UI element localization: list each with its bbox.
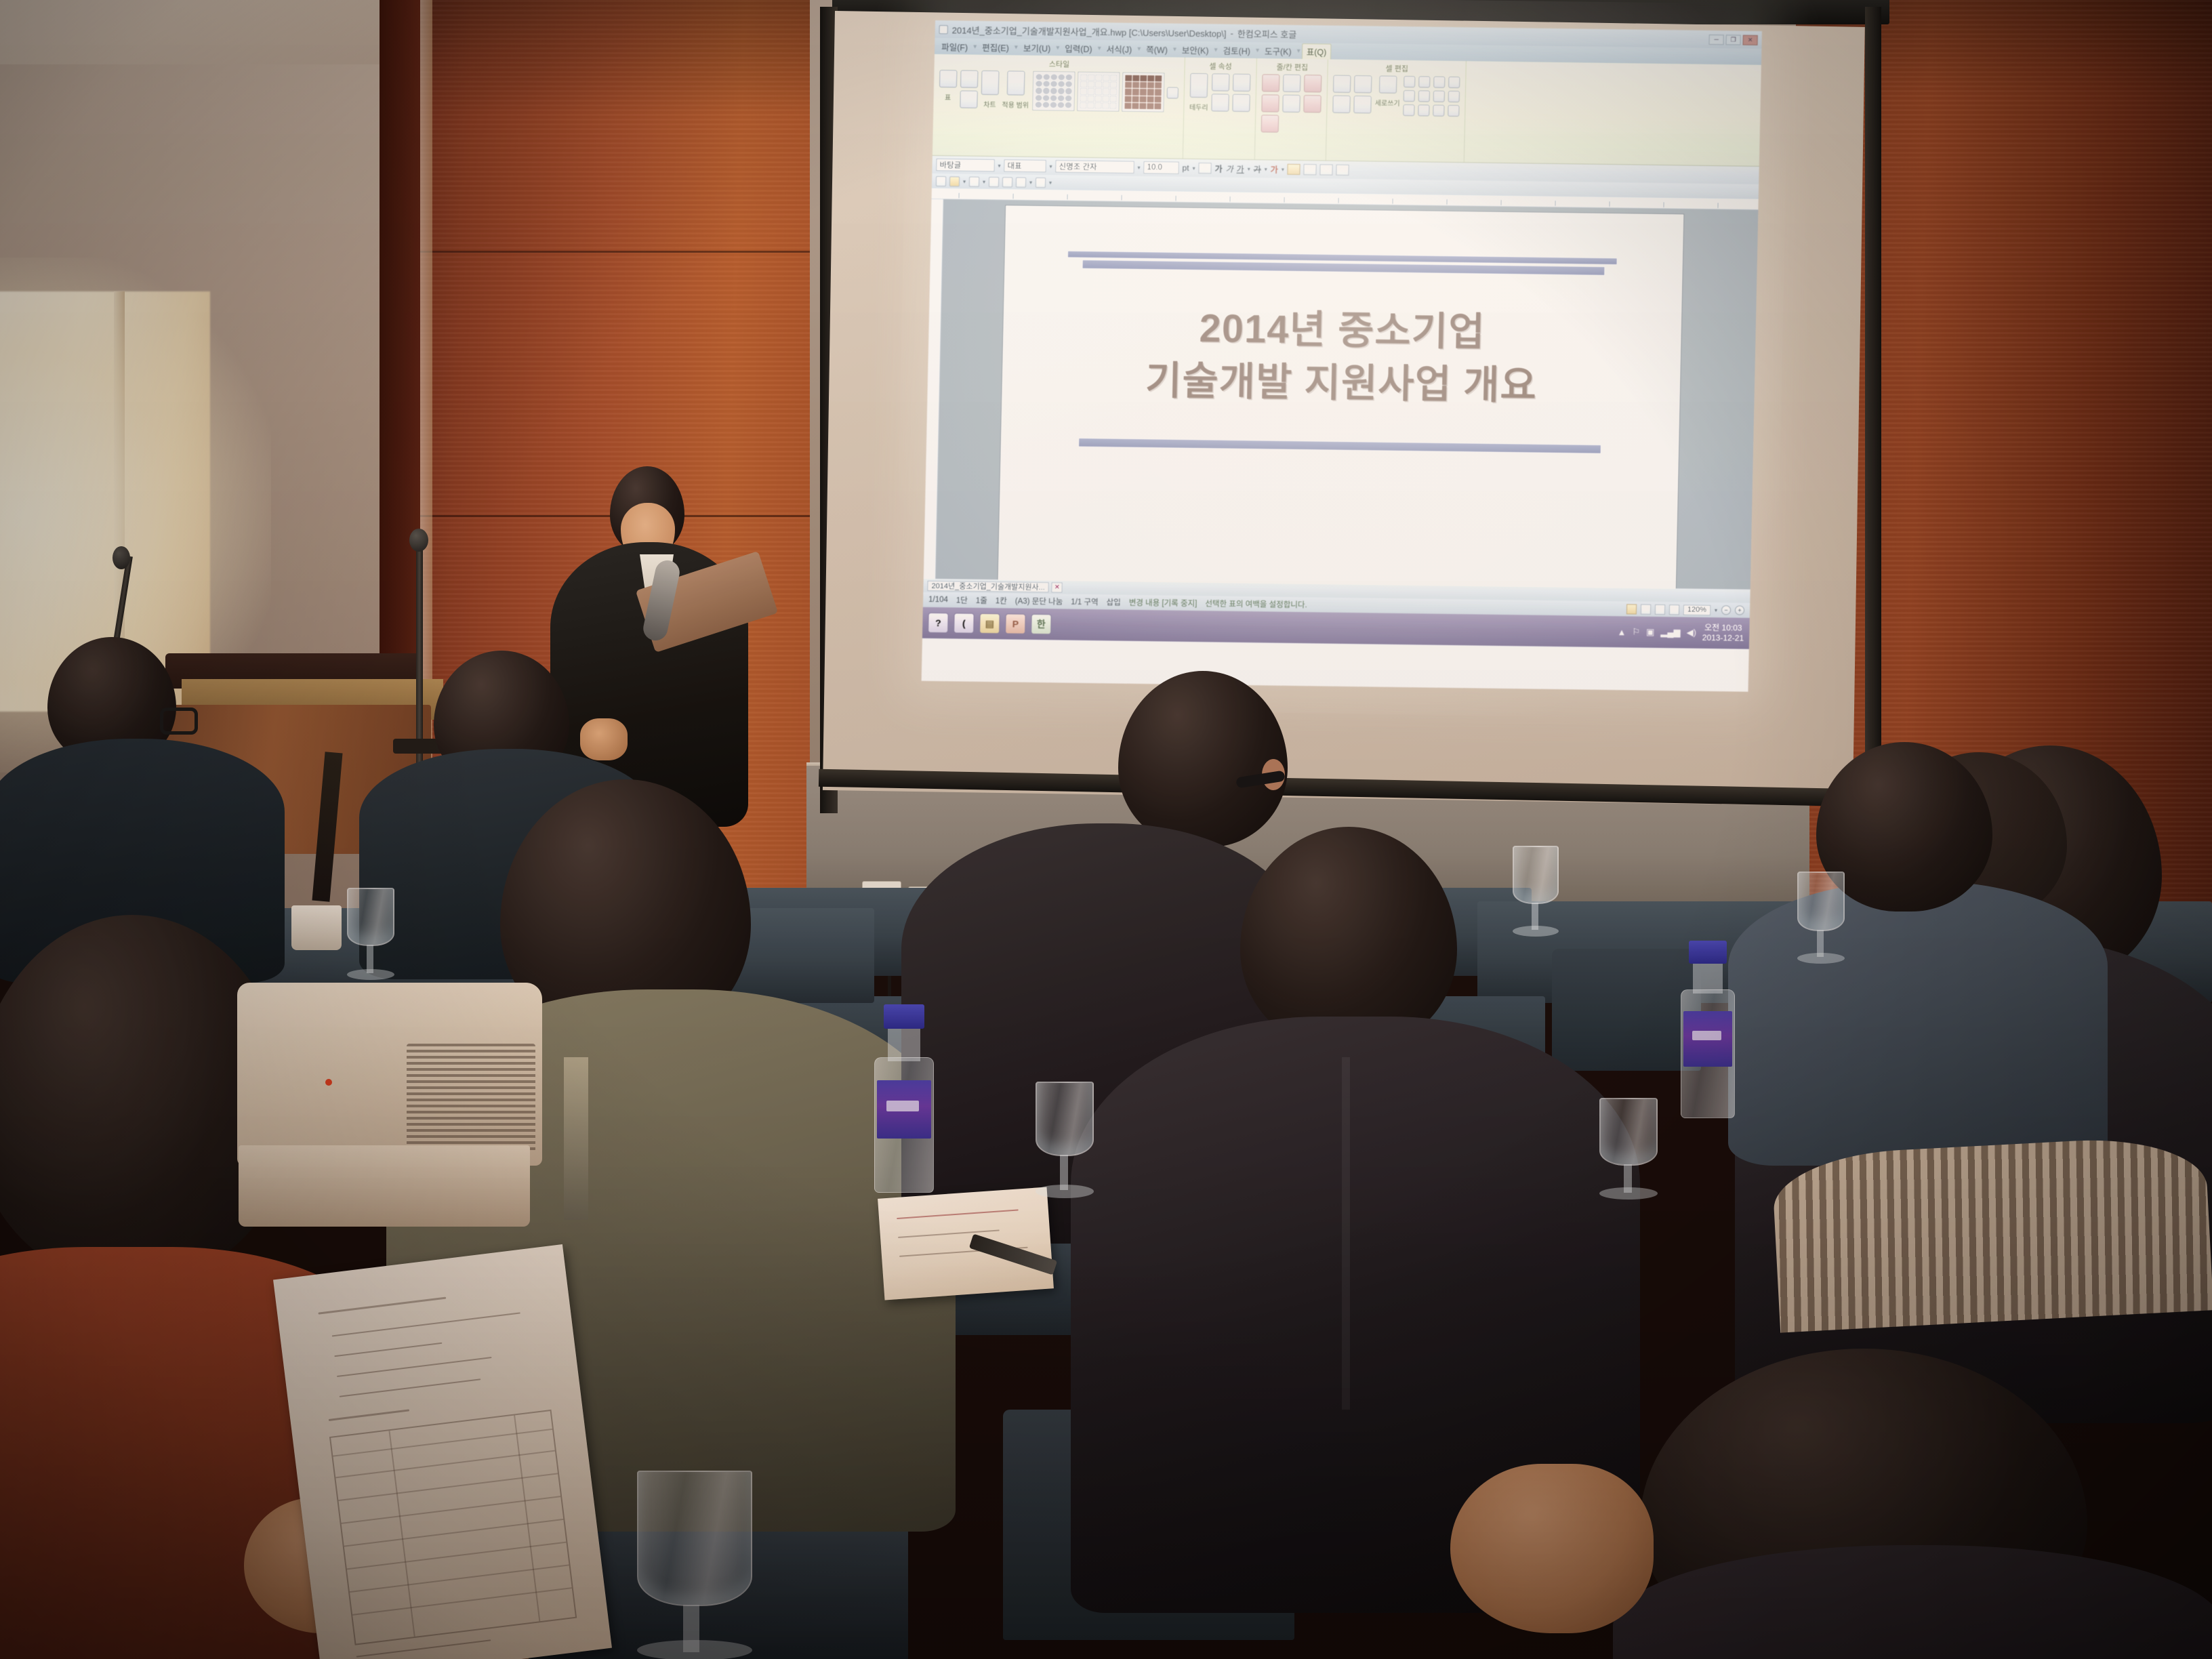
taskbar-browser-icon[interactable]: (	[954, 613, 975, 633]
ribbon-group-row-column-edit: 줄/칸 편집	[1255, 58, 1328, 160]
document-tab[interactable]: 2014년_중소기업_기술개발지원사...	[927, 580, 1049, 592]
zoom-magnifier-icon[interactable]	[1669, 605, 1679, 615]
glass-foot	[1036, 1185, 1094, 1198]
diagonal-line-icon[interactable]	[1232, 94, 1250, 112]
handout-subheading	[329, 1409, 409, 1421]
glass-foot	[1797, 953, 1845, 964]
document-canvas[interactable]: 2014년 중소기업 기술개발 지원사업 개요	[924, 199, 1759, 590]
caption-icon[interactable]	[960, 90, 978, 108]
ribbon-group-label: 셀 속성	[1209, 60, 1232, 71]
projected-desktop: 2014년_중소기업_기술개발지원사업_개요.hwp [C:\Users\Use…	[922, 20, 1762, 692]
table-icon[interactable]	[939, 70, 958, 87]
document-title: 2014년 중소기업 기술개발 지원사업 개요	[1079, 272, 1604, 445]
hwp-app-icon	[939, 25, 948, 34]
merge-cells-icon[interactable]	[1333, 75, 1351, 93]
gallery-scroll-icon[interactable]	[1166, 87, 1178, 98]
split-cells-icon[interactable]	[1332, 96, 1351, 113]
chevron-down-icon[interactable]: ▾	[998, 163, 1000, 169]
signal-icon[interactable]: ▂▄▆	[1660, 627, 1681, 638]
strikethrough-button[interactable]: 가	[1254, 163, 1261, 175]
menu-sep: ▾	[1256, 47, 1259, 54]
chart-insert-icon[interactable]	[981, 70, 1000, 95]
redo-icon[interactable]	[1036, 177, 1046, 187]
handout-text-line	[334, 1343, 442, 1357]
ribbon-group-label: 스타일	[1049, 58, 1070, 69]
bold-button[interactable]: 가	[1214, 163, 1222, 174]
align-left-icon[interactable]	[1288, 164, 1300, 175]
chevron-down-icon[interactable]: ▾	[1248, 166, 1250, 172]
ribbon-item-label: 세로쓰기	[1375, 98, 1400, 108]
open-file-icon[interactable]	[949, 176, 960, 186]
ribbon-group-cell-properties: 셀 속성 테두리	[1183, 58, 1257, 159]
hand	[1450, 1464, 1654, 1633]
handout-table	[329, 1410, 577, 1645]
microphone-icon	[409, 529, 428, 552]
status-hint: 선택한 표의 여백을 설정합니다.	[1205, 598, 1307, 610]
print-icon[interactable]	[989, 177, 999, 187]
menu-view[interactable]: 보기(U)	[1019, 40, 1055, 55]
menu-input[interactable]: 입력(D)	[1061, 41, 1097, 56]
status-column: 1단	[956, 594, 968, 605]
taskbar-explorer-icon[interactable]: ▤	[979, 613, 1000, 634]
hwp-app-name: 한컴오피스 호글	[1237, 26, 1297, 40]
zoom-out-button[interactable]: −	[1721, 605, 1731, 615]
glass-foot	[637, 1640, 752, 1659]
menu-sep: ▾	[1214, 46, 1217, 54]
panel-seam	[380, 251, 854, 253]
menu-file[interactable]: 파일(F)	[937, 39, 972, 54]
projection-screen-right-edge	[1865, 7, 1881, 800]
zoom-in-button[interactable]: +	[1735, 605, 1744, 615]
flag-icon[interactable]: ⚐	[1632, 627, 1640, 638]
clock-time: 오전 10:03	[1702, 623, 1744, 634]
document-title-line-2: 기술개발 지원사업 개요	[1080, 354, 1603, 413]
column-width-icon[interactable]	[1282, 95, 1300, 112]
menu-sep: ▾	[1015, 43, 1018, 51]
close-icon[interactable]: ✕	[1052, 582, 1063, 592]
table-style-grid[interactable]	[1077, 72, 1120, 112]
projector-vent-grille	[407, 1044, 535, 1152]
align-top-left-icon[interactable]	[1418, 76, 1430, 87]
handout-text-line	[340, 1378, 481, 1397]
line-spacing-icon[interactable]	[1198, 163, 1211, 173]
insert-row-icon[interactable]	[1262, 74, 1280, 91]
eyeglasses-icon	[160, 708, 198, 735]
background-fill-icon[interactable]	[1233, 74, 1251, 91]
align-center-icon[interactable]	[1304, 164, 1317, 175]
water-glass	[1513, 846, 1559, 904]
vest-seam	[1342, 1057, 1350, 1410]
apply-range-icon[interactable]	[1007, 70, 1025, 95]
chevron-down-icon[interactable]: ▾	[1049, 163, 1052, 169]
font-color-button[interactable]: 가	[1271, 163, 1278, 175]
handout-document[interactable]	[273, 1244, 612, 1659]
font-family-select[interactable]: 신명조 간자	[1055, 160, 1134, 173]
menu-sep: ▾	[1297, 47, 1300, 54]
bottle-label	[1683, 1011, 1732, 1067]
taskbar-hangul-icon[interactable]: 한	[1031, 614, 1052, 634]
align-bottom-left-icon[interactable]	[1418, 104, 1429, 116]
menu-page[interactable]: 쪽(W)	[1142, 42, 1172, 57]
glass-foot	[347, 969, 394, 980]
eraser-icon[interactable]	[1211, 94, 1229, 111]
menu-security[interactable]: 보안(K)	[1178, 42, 1213, 57]
bottle-neck	[888, 1023, 920, 1061]
status-line: 1줄	[976, 595, 987, 606]
clock-date: 2013-12-21	[1702, 633, 1744, 644]
volume-icon[interactable]: ◀)	[1686, 628, 1696, 638]
projector-power-led	[325, 1079, 332, 1086]
border-icon[interactable]	[1190, 73, 1208, 98]
style-select[interactable]: 바탕글	[936, 159, 994, 171]
ribbon-group-label: 줄/칸 편집	[1276, 62, 1308, 73]
menu-sep: ▾	[1098, 45, 1101, 52]
align-center-left-icon[interactable]	[1418, 90, 1430, 102]
chevron-down-icon[interactable]: ▾	[963, 178, 966, 184]
ribbon-item-label: 테두리	[1189, 102, 1208, 112]
chevron-down-icon[interactable]: ▾	[1192, 165, 1195, 171]
chevron-down-icon[interactable]: ▾	[1137, 164, 1140, 170]
maximize-button[interactable]: ❐	[1726, 35, 1741, 45]
microphone-icon	[112, 546, 130, 569]
align-bottom-right-icon[interactable]	[1448, 105, 1459, 117]
water-glass	[1797, 872, 1845, 931]
table-style-filled[interactable]	[1122, 73, 1164, 112]
handout-on-table[interactable]	[878, 1187, 1054, 1300]
font-size-unit: pt	[1182, 163, 1189, 173]
align-top-icon[interactable]	[1404, 76, 1415, 87]
italic-button[interactable]: 가	[1225, 163, 1233, 174]
handout-heading	[318, 1297, 446, 1315]
ribbon-item-label: 적용 범위	[1002, 99, 1029, 110]
align-bottom-icon[interactable]	[1403, 104, 1414, 116]
status-paragraph-break: (A3) 문단 나눔	[1015, 596, 1063, 607]
table-column-divider	[388, 1431, 415, 1637]
font-size-select[interactable]: 10.0	[1143, 161, 1179, 174]
pen-icon[interactable]	[1212, 73, 1230, 91]
chevron-down-icon[interactable]: ▾	[1265, 166, 1267, 172]
paragraph-style-select[interactable]: 대표	[1004, 159, 1046, 172]
vertical-writing-icon[interactable]	[1379, 76, 1397, 94]
menu-table[interactable]: 표(Q)	[1301, 43, 1331, 62]
water-glass	[1599, 1098, 1658, 1166]
table-column-divider	[514, 1415, 540, 1621]
table-style-plain[interactable]	[1032, 71, 1075, 111]
view-single-page-icon[interactable]	[1626, 604, 1637, 614]
hwp-document-path: 2014년_중소기업_기술개발지원사업_개요.hwp [C:\Users\Use…	[952, 23, 1227, 39]
menu-format[interactable]: 서식(J)	[1102, 41, 1136, 56]
hwp-title-separator: -	[1230, 28, 1233, 38]
undo-icon[interactable]	[1016, 177, 1026, 187]
floor-microphone-stand	[416, 542, 423, 766]
title-block: 2014년 중소기업 기술개발 지원사업 개요	[1079, 251, 1605, 453]
zoom-level[interactable]: 120%	[1683, 605, 1711, 615]
ribbon-item-label: 차트	[983, 99, 996, 109]
document-title-line-1: 2014년 중소기업	[1081, 301, 1604, 361]
split-table-icon[interactable]	[1354, 75, 1372, 93]
hand	[580, 718, 628, 760]
align-middle-icon[interactable]	[1404, 90, 1415, 102]
preview-icon[interactable]	[1002, 177, 1012, 187]
status-change-tracking[interactable]: 변경 내용 [기록 중지]	[1129, 597, 1197, 609]
water-glass	[347, 888, 394, 946]
menu-edit[interactable]: 편집(E)	[978, 39, 1013, 54]
underline-button[interactable]: 가	[1237, 163, 1244, 174]
merge-table-icon[interactable]	[1353, 96, 1372, 113]
chevron-down-icon[interactable]: ▾	[1029, 179, 1032, 185]
document-page[interactable]: 2014년 중소기업 기술개발 지원사업 개요	[998, 205, 1684, 588]
view-facing-pages-icon[interactable]	[1641, 604, 1651, 614]
status-insert-mode[interactable]: 삽입	[1106, 596, 1121, 607]
projector-front-panel	[239, 1145, 530, 1227]
menu-sep: ▾	[1173, 45, 1176, 53]
ribbon-item-label: 표	[945, 91, 951, 102]
network-share-icon[interactable]: ▣	[1646, 627, 1655, 638]
menu-sep: ▾	[1137, 45, 1141, 52]
align-top-center-icon[interactable]	[1433, 77, 1445, 88]
lanyard	[564, 1057, 588, 1220]
status-page: 1/104	[928, 596, 948, 604]
menu-review[interactable]: 검토(H)	[1218, 43, 1254, 58]
striped-collar	[1771, 1134, 2212, 1332]
water-glass	[1036, 1082, 1094, 1156]
handout-text-line	[332, 1312, 520, 1336]
taskbar-presentation-icon[interactable]: P	[1005, 613, 1026, 634]
distribute-rows-icon[interactable]	[1304, 75, 1322, 92]
glass-foot	[1513, 926, 1559, 937]
delete-row-icon[interactable]	[1261, 115, 1279, 132]
bottle-cap	[1689, 941, 1727, 964]
taskbar-help-icon[interactable]: ?	[928, 613, 949, 633]
chevron-down-icon[interactable]: ▾	[1049, 180, 1052, 186]
bottle-label	[877, 1080, 931, 1139]
view-layout-icon[interactable]	[1655, 604, 1665, 614]
chevron-down-icon[interactable]: ▾	[983, 178, 985, 184]
coffee-mug	[291, 905, 342, 950]
glass-foot	[1599, 1187, 1658, 1200]
menu-tools[interactable]: 도구(K)	[1261, 43, 1296, 58]
distribute-columns-icon[interactable]	[1303, 95, 1322, 112]
system-tray: ▲ ⚐ ▣ ▂▄▆ ◀) 오전 10:03 2013-12-21	[1617, 621, 1744, 643]
chevron-down-icon[interactable]: ▾	[1715, 607, 1717, 613]
ribbon-group-cell-edit: 셀 편집 세로쓰기	[1326, 60, 1467, 163]
insert-column-icon[interactable]	[1261, 94, 1279, 112]
minimize-button[interactable]: ─	[1709, 34, 1724, 44]
bottle-cap	[884, 1004, 924, 1029]
seminar-room-photo: 2014년_중소기업_기술개발지원사업_개요.hwp [C:\Users\Use…	[0, 0, 2212, 1659]
chart-icon[interactable]	[960, 70, 979, 87]
torso	[1728, 881, 2108, 1166]
chair-back	[1552, 949, 1701, 1071]
menu-sep: ▾	[1056, 44, 1059, 52]
align-center-right-icon[interactable]	[1448, 91, 1460, 102]
row-height-icon[interactable]	[1283, 75, 1301, 92]
ribbon-group-label: 셀 편집	[1385, 63, 1408, 74]
handout-text-line	[897, 1209, 1019, 1219]
align-top-right-icon[interactable]	[1448, 77, 1460, 88]
new-document-icon[interactable]	[936, 176, 946, 186]
hwp-ribbon: 스타일 표 차트	[933, 54, 1761, 167]
menu-sep: ▾	[973, 43, 977, 50]
taskbar-clock[interactable]: 오전 10:03 2013-12-21	[1702, 623, 1744, 644]
water-glass	[637, 1471, 752, 1606]
status-char: 1칸	[996, 595, 1007, 606]
status-section: 1/1 구역	[1071, 596, 1099, 608]
align-justify-icon[interactable]	[1336, 165, 1349, 176]
save-icon[interactable]	[969, 176, 979, 186]
chevron-down-icon[interactable]: ▾	[1282, 166, 1284, 172]
align-bottom-center-icon[interactable]	[1433, 105, 1444, 117]
show-hidden-icons-icon[interactable]: ▲	[1617, 627, 1626, 637]
align-center-icon[interactable]	[1433, 91, 1445, 102]
handout-text-line	[337, 1357, 492, 1377]
close-button[interactable]: ✕	[1743, 35, 1758, 45]
ribbon-group-style: 스타일 표 차트	[933, 54, 1185, 159]
table-style-gallery[interactable]	[1032, 71, 1179, 112]
align-right-icon[interactable]	[1320, 164, 1333, 175]
